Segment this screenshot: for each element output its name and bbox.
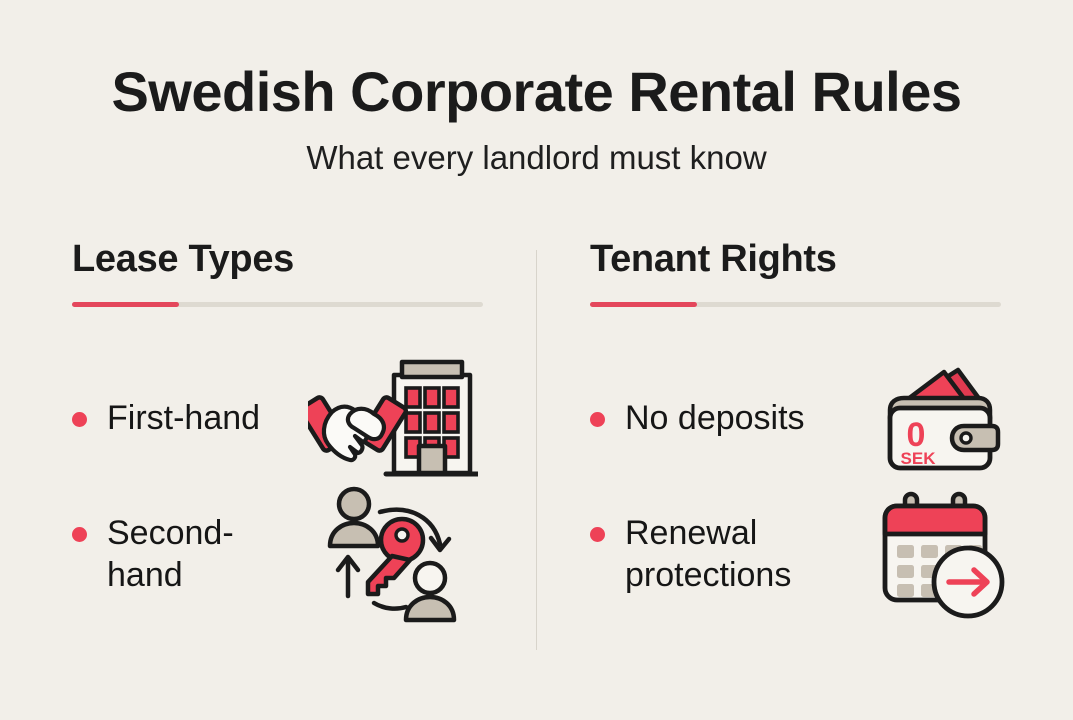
calendar-renewal-arrow-icon (867, 490, 1017, 620)
columns-container: Lease Types First-hand (0, 240, 1073, 670)
column-tenant-rights: Tenant Rights No deposits (536, 240, 1073, 670)
bullet-wrap: Second- hand (72, 513, 305, 596)
bullet-wrap: First-hand (72, 398, 305, 439)
lease-types-list: First-hand (72, 355, 480, 619)
bullet-dot-icon (72, 527, 87, 542)
list-item-label: No deposits (625, 398, 805, 439)
bullet-dot-icon (590, 527, 605, 542)
section-heading-lease-types: Lease Types (72, 240, 480, 280)
poster-header: Swedish Corporate Rental Rules What ever… (0, 62, 1073, 177)
key-exchange-people-icon (305, 482, 480, 628)
list-item[interactable]: Renewal protections (590, 491, 1017, 619)
section-rule-lease-types (72, 302, 483, 307)
wallet-currency-text: SEK (901, 449, 937, 468)
page-subtitle: What every landlord must know (0, 140, 1073, 176)
bullet-dot-icon (590, 412, 605, 427)
tenant-rights-list: No deposits (590, 355, 1017, 619)
list-item[interactable]: Second- hand (72, 491, 480, 619)
bullet-wrap: Renewal protections (590, 513, 867, 596)
list-item[interactable]: No deposits (590, 355, 1017, 483)
list-item-label: Renewal protections (625, 513, 791, 596)
wallet-zero-sek-icon: 0 SEK (867, 364, 1017, 474)
infographic-poster: Swedish Corporate Rental Rules What ever… (0, 0, 1073, 720)
handshake-building-icon (305, 357, 480, 481)
list-item[interactable]: First-hand (72, 355, 480, 483)
section-heading-tenant-rights: Tenant Rights (590, 240, 1017, 280)
list-item-label: First-hand (107, 398, 260, 439)
page-title: Swedish Corporate Rental Rules (0, 62, 1073, 122)
bullet-wrap: No deposits (590, 398, 867, 439)
section-rule-tenant-rights (590, 302, 1001, 307)
list-item-label: Second- hand (107, 513, 234, 596)
column-lease-types: Lease Types First-hand (0, 240, 536, 670)
bullet-dot-icon (72, 412, 87, 427)
